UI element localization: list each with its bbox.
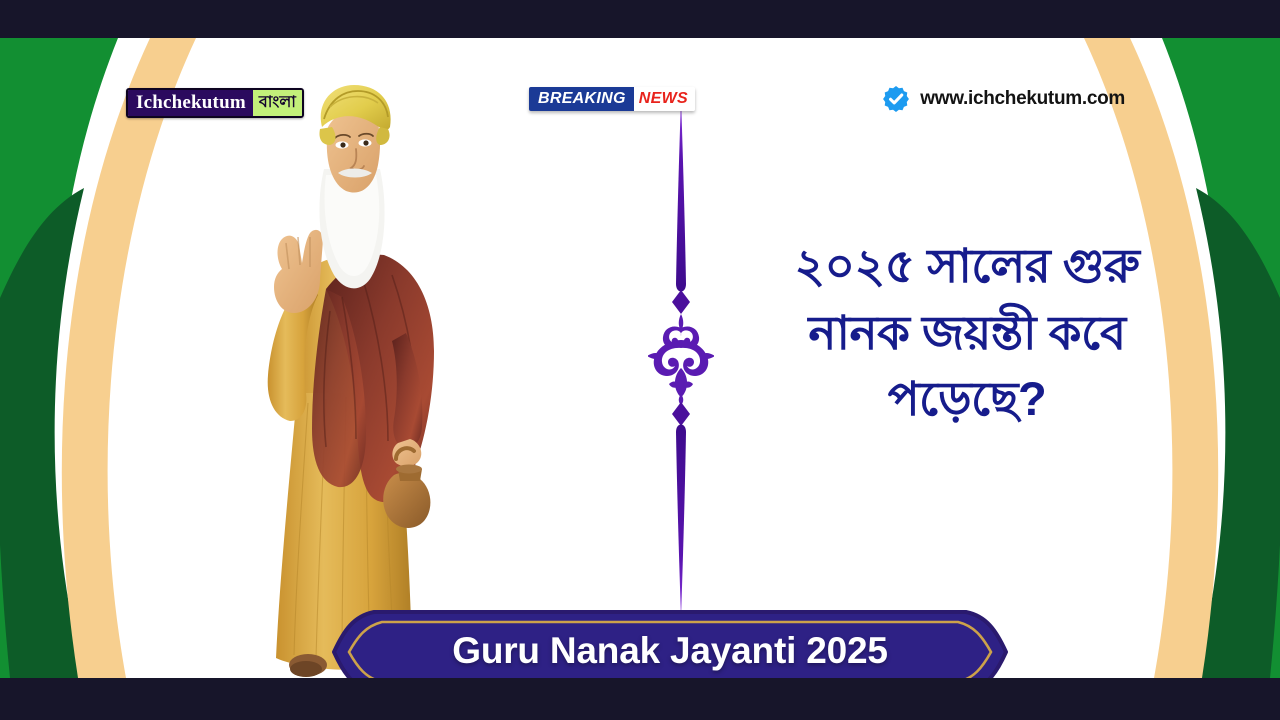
headline-line-1: ২০২৫ সালের গুরু [722, 233, 1212, 300]
banner-title-text: Guru Nanak Jayanti 2025 [330, 604, 1010, 678]
left-decorative-bands [0, 38, 230, 678]
poster-root: Ichchekutum বাংলা BREAKING NEWS www.ichc… [0, 0, 1280, 720]
website-credit[interactable]: www.ichchekutum.com [882, 85, 1125, 113]
verified-check-icon [882, 85, 910, 113]
breaking-news-label: NEWS [634, 87, 695, 111]
website-url-text: www.ichchekutum.com [920, 88, 1125, 110]
site-logo[interactable]: Ichchekutum বাংলা [126, 88, 304, 118]
headline-line-2: নানক জয়ন্তী কবে [722, 300, 1212, 367]
headline-text: ২০২৫ সালের গুরু নানক জয়ন্তী কবে পড়েছে? [722, 233, 1212, 433]
breaking-label: BREAKING [529, 87, 634, 111]
bottom-letterbox-bar [0, 678, 1280, 720]
logo-sub-text: বাংলা [253, 90, 302, 116]
header-bar: Ichchekutum বাংলা BREAKING NEWS www.ichc… [0, 38, 1280, 98]
ornamental-vertical-divider [648, 98, 714, 618]
logo-main-text: Ichchekutum [128, 90, 253, 116]
headline-line-3: পড়েছে? [722, 366, 1212, 433]
breaking-news-badge: BREAKING NEWS [529, 87, 695, 111]
title-banner: Guru Nanak Jayanti 2025 [330, 604, 1010, 678]
top-letterbox-bar [0, 0, 1280, 38]
guru-nanak-portrait [246, 83, 496, 678]
poster-canvas: Ichchekutum বাংলা BREAKING NEWS www.ichc… [0, 38, 1280, 678]
